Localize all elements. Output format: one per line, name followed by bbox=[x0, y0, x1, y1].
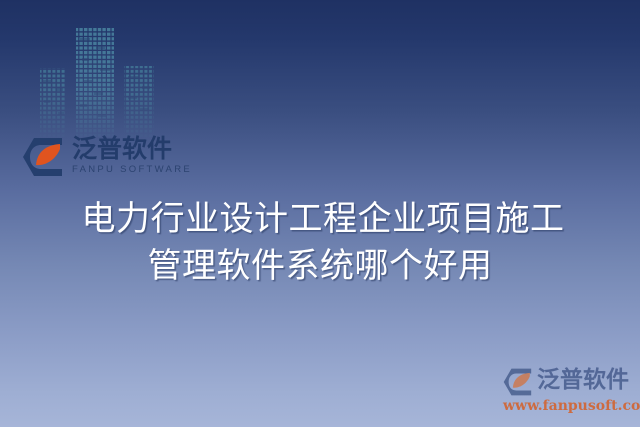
watermark-logo-row: 泛普软件 bbox=[503, 366, 637, 397]
brand-logo: 泛普软件 FANPU SOFTWARE bbox=[22, 135, 182, 185]
page-title: 电力行业设计工程企业项目施工 管理软件系统哪个好用 bbox=[0, 196, 640, 290]
page-title-line-1: 电力行业设计工程企业项目施工 bbox=[0, 196, 640, 243]
fanpu-shield-mark-icon bbox=[503, 367, 534, 397]
page-title-line-2: 管理软件系统哪个好用 bbox=[0, 243, 640, 290]
promo-banner: 泛普软件 FANPU SOFTWARE 电力行业设计工程企业项目施工 管理软件系… bbox=[0, 0, 640, 427]
brand-logo-wordmark: 泛普软件 FANPU SOFTWARE bbox=[72, 135, 192, 175]
brand-name-en: FANPU SOFTWARE bbox=[72, 164, 192, 175]
pixel-skyline-buildings-icon bbox=[38, 28, 156, 138]
brand-name-cn: 泛普软件 bbox=[72, 136, 192, 162]
watermark-url: www.fanpusoft.com bbox=[503, 398, 637, 414]
fanpu-shield-mark-icon bbox=[22, 136, 66, 178]
watermark-name-cn: 泛普软件 bbox=[537, 366, 629, 394]
watermark: 泛普软件 www.fanpusoft.com bbox=[503, 366, 637, 416]
